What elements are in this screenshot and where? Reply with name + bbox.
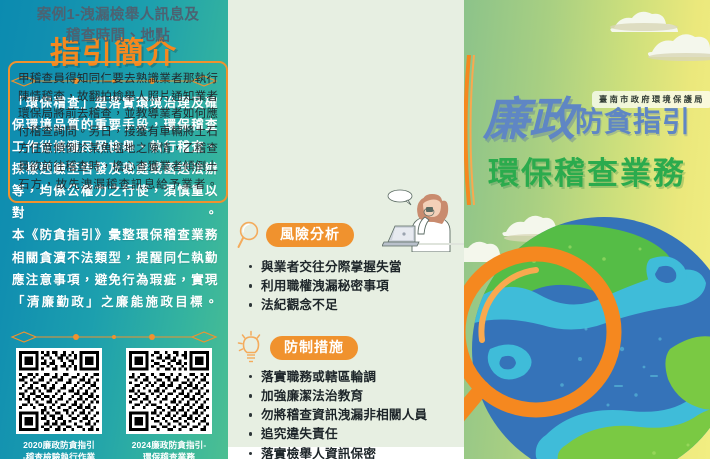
risk-analysis-list: 與業者交往分際掌握失當 利用職權洩漏秘密事項 法紀觀念不足 [248, 258, 463, 315]
qr-block-2024[interactable]: 2024廉政防貪指引- 環保稽查業務 [121, 348, 217, 459]
qr-label-line2: -稽查檢驗執行作業 [11, 451, 107, 459]
title-emphasis: 廉政 [483, 96, 575, 142]
list-item: 追究違失責任 [248, 425, 463, 444]
title-subtext: 防貪指引 [575, 108, 691, 136]
lightbulb-icon [236, 330, 266, 366]
intro-paragraph-2: 本《防貪指引》彙整環保稽查業務相關貪瀆不法類型，提醒同仁執勤應注意事項，避免行為… [12, 224, 218, 312]
poster-root: 指引簡介 「環保稽查」是落實環境治理及確保環境品質的重要手段，環保稽查工作從接獲… [0, 0, 710, 459]
list-item: 與業者交往分際掌握失當 [248, 258, 463, 277]
list-item: 法紀觀念不足 [248, 296, 463, 315]
control-measures-label: 防制措施 [270, 336, 358, 360]
list-item: 落實檢舉人資訊保密 [248, 445, 463, 459]
list-item: 勿將稽查資訊洩漏非相關人員 [248, 406, 463, 425]
qr-code-row: 2020廉政防貪指引 -稽查檢驗執行作業 [0, 348, 228, 459]
woman-on-phone-with-laptop-icon [382, 186, 468, 252]
list-item: 利用職權洩漏秘密事項 [248, 277, 463, 296]
qr-label-2020: 2020廉政防貪指引 -稽查檢驗執行作業 [11, 439, 107, 459]
risk-analysis-header: 風險分析 [236, 220, 354, 250]
title-line-1: 廉政防貪指引 [464, 96, 710, 142]
magnifier-icon [236, 220, 262, 250]
qr-label-line1: 2024廉政防貪指引- [121, 439, 217, 451]
case-title-line1: 案例1-洩漏檢舉人訊息及 [6, 5, 230, 26]
list-item: 落實職務或轄區輪調 [248, 368, 463, 387]
qr-label-line2: 環保稽查業務 [121, 451, 217, 459]
control-measures-header: 防制措施 [236, 330, 358, 366]
qr-label-line1: 2020廉政防貪指引 [11, 439, 107, 451]
case-description-box: 甲稽查員得知同仁要去熟識業者那執行陳情稽查，故翻拍檢舉人照片通知業者環保局將前去… [8, 61, 228, 203]
qr-code-icon[interactable] [126, 348, 212, 434]
list-item: 加強廉潔法治教育 [248, 387, 463, 406]
case-title-line2: 稽查時間、地點 [6, 26, 230, 47]
ornamental-divider-icon-2 [10, 330, 218, 344]
qr-code-icon[interactable] [16, 348, 102, 434]
right-panel: 臺南市政府環境保護局 廉政防貪指引 環保稽查業務 [464, 0, 710, 459]
qr-block-2020[interactable]: 2020廉政防貪指引 -稽查檢驗執行作業 [11, 348, 107, 459]
case-description-text: 甲稽查員得知同仁要去熟識業者那執行陳情稽查，故翻拍檢舉人照片通知業者環保局將前去… [18, 70, 218, 193]
poster-main-title: 廉政防貪指引 環保稽查業務 [464, 96, 710, 193]
control-measures-list: 落實職務或轄區輪調 加強廉潔法治教育 勿將稽查資訊洩漏非相關人員 追究違失責任 … [248, 368, 463, 459]
qr-label-2024: 2024廉政防貪指引- 環保稽查業務 [121, 439, 217, 459]
risk-analysis-label: 風險分析 [266, 223, 354, 247]
title-line-2: 環保稽查業務 [464, 148, 710, 193]
case-title: 案例1-洩漏檢舉人訊息及 稽查時間、地點 [6, 5, 230, 47]
